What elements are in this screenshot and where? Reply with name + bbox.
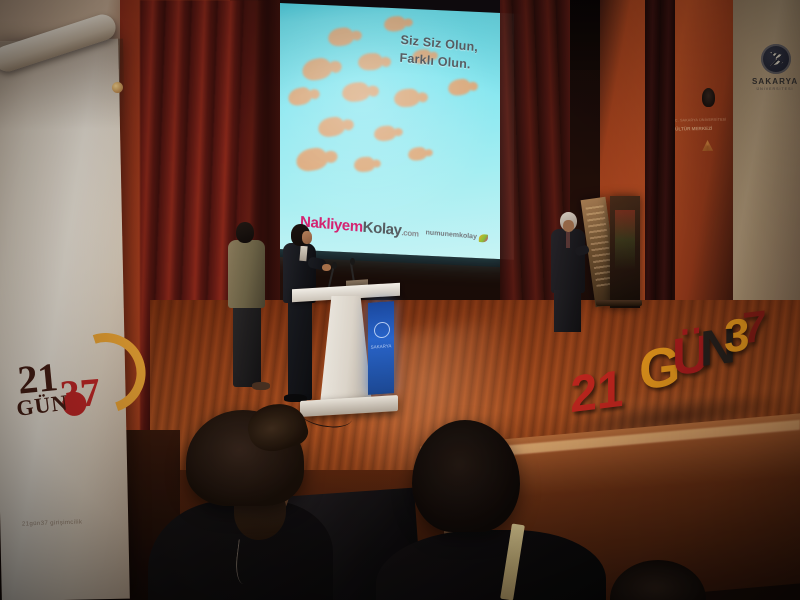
wall-plaque: T.C. SAKARYA ÜNİVERSİTESİ KÜLTÜR MERKEZİ: [672, 117, 739, 160]
person-host-face: [563, 220, 574, 232]
presenter-legs: [288, 300, 312, 400]
stage-letter-21: 21: [570, 363, 623, 422]
rollup-banner-stand: [596, 300, 642, 306]
secondary-logo-text: numunemkolay: [425, 229, 477, 240]
secondary-logo: numunemkolay: [425, 229, 488, 242]
person-assistant-body: [228, 240, 265, 308]
university-logo-plaque: SAKARYA ÜNİVERSİTESİ: [752, 44, 798, 124]
person-assistant-head: [236, 222, 254, 243]
presenter-hand: [322, 264, 331, 271]
left-banner-logo: 21 37 GÜN: [12, 329, 125, 452]
person-assistant-legs: [233, 305, 261, 387]
stage-letter-7: 7: [742, 304, 766, 351]
university-name: SAKARYA: [752, 77, 798, 86]
university-subname: ÜNİVERSİTESİ: [752, 87, 798, 91]
auditorium-photo: SAKARYA ÜNİVERSİTESİ T.C. SAKARYA ÜNİVER…: [0, 0, 800, 600]
person-host-tie: [566, 232, 570, 248]
logo-suffix: .com: [401, 228, 418, 238]
person-assistant-shoe: [252, 382, 270, 390]
rollup-banner-2-graphic: [615, 210, 635, 270]
plaque-line-1: T.C. SAKARYA ÜNİVERSİTESİ: [672, 117, 738, 122]
presenter-face: [302, 231, 312, 244]
plaque-line-2: KÜLTÜR MERKEZİ: [672, 125, 738, 131]
plaque-emblem-icon: [702, 140, 713, 151]
microphone-head-1: [332, 262, 337, 269]
logo-part-2: Kolay: [362, 219, 402, 239]
presenter-shirt: [299, 246, 307, 262]
left-banner-roll-cap: [112, 82, 123, 93]
curtain-right-fold: [645, 0, 675, 320]
leaf-icon: [479, 233, 488, 242]
person-host-legs: [554, 290, 581, 332]
microphone-head-2: [350, 258, 355, 265]
wall-sconce-icon: [702, 88, 715, 107]
